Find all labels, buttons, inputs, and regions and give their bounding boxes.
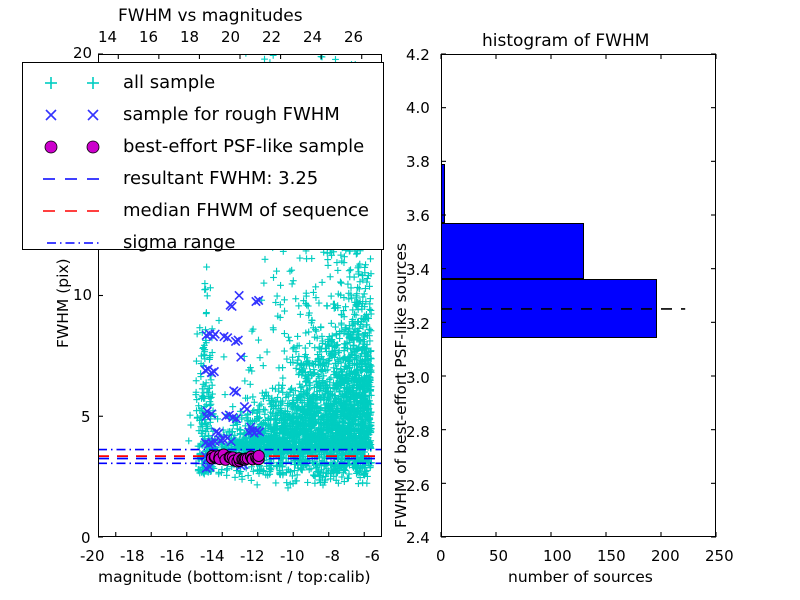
left-ytick-10: 10 xyxy=(73,288,92,303)
bottom-tick-m14: -14 xyxy=(200,549,225,564)
legend-label-median-fwhm: median FHWM of sequence xyxy=(123,202,369,220)
right-ytick-2-4: 2.4 xyxy=(406,531,430,546)
dashed-line-blue-icon xyxy=(31,163,123,195)
right-ytick-4-2: 4.2 xyxy=(406,48,430,63)
legend-item-rough-fwhm[interactable]: sample for rough FWHM xyxy=(31,99,375,131)
dashdot-line-icon xyxy=(31,227,123,259)
top-tick-24: 24 xyxy=(303,30,322,45)
figure-canvas: FWHM vs magnitudes 14 16 18 20 22 24 26 … xyxy=(0,0,800,600)
bottom-tick-m6: -6 xyxy=(365,549,380,564)
top-tick-18: 18 xyxy=(180,30,199,45)
right-plot-title: histogram of FWHM xyxy=(482,33,649,50)
right-xtick-100: 100 xyxy=(543,549,572,564)
cross-marker-icon xyxy=(31,99,123,131)
legend-item-sigma-range[interactable]: sigma range xyxy=(31,227,375,259)
right-xtick-150: 150 xyxy=(597,549,626,564)
right-axis-frame xyxy=(441,54,716,537)
bottom-tick-m20: -20 xyxy=(80,549,105,564)
top-tick-16: 16 xyxy=(139,30,158,45)
bottom-tick-m12: -12 xyxy=(240,549,265,564)
legend-item-all-sample[interactable]: all sample xyxy=(31,67,375,99)
right-xtick-0: 0 xyxy=(436,549,446,564)
legend-box: all sample sample for rough FWHM b xyxy=(22,62,384,250)
legend-label-rough-fwhm: sample for rough FWHM xyxy=(123,106,340,124)
legend-label-resultant-fwhm: resultant FWHM: 3.25 xyxy=(123,170,318,188)
legend-label-psf-like: best-effort PSF-like sample xyxy=(123,138,364,156)
bottom-tick-m8: -8 xyxy=(325,549,340,564)
legend-label-sigma-range: sigma range xyxy=(123,234,235,252)
left-ytick-20: 20 xyxy=(73,46,92,61)
right-ytick-4-0: 4.0 xyxy=(406,101,430,116)
right-ytick-3-8: 3.8 xyxy=(406,155,430,170)
bottom-tick-m18: -18 xyxy=(120,549,145,564)
right-xaxis-label: number of sources xyxy=(508,570,653,586)
left-ytick-0: 0 xyxy=(81,531,91,546)
right-xtick-50: 50 xyxy=(489,549,508,564)
legend-item-psf-like[interactable]: best-effort PSF-like sample xyxy=(31,131,375,163)
dashed-line-red-icon xyxy=(31,195,123,227)
left-xaxis-label: magnitude (bottom:isnt / top:calib) xyxy=(98,570,371,586)
top-tick-20: 20 xyxy=(221,30,240,45)
bottom-tick-m10: -10 xyxy=(280,549,305,564)
legend-item-median-fwhm[interactable]: median FHWM of sequence xyxy=(31,195,375,227)
right-ytick-3-6: 3.6 xyxy=(406,209,430,224)
plus-marker-icon xyxy=(31,67,123,99)
left-ytick-5: 5 xyxy=(81,410,91,425)
top-tick-22: 22 xyxy=(262,30,281,45)
legend-label-all-sample: all sample xyxy=(123,74,215,92)
top-tick-14: 14 xyxy=(98,30,117,45)
left-plot-title: FWHM vs magnitudes xyxy=(118,8,303,25)
right-yaxis-label: FWHM of best-effort PSF-like sources xyxy=(394,243,410,528)
circle-marker-icon xyxy=(31,131,123,163)
legend-item-resultant-fwhm[interactable]: resultant FWHM: 3.25 xyxy=(31,163,375,195)
bottom-tick-m16: -16 xyxy=(160,549,185,564)
right-xtick-200: 200 xyxy=(651,549,680,564)
left-yaxis-label: FWHM (pix) xyxy=(56,258,72,348)
top-tick-26: 26 xyxy=(344,30,363,45)
right-xtick-250: 250 xyxy=(705,549,734,564)
